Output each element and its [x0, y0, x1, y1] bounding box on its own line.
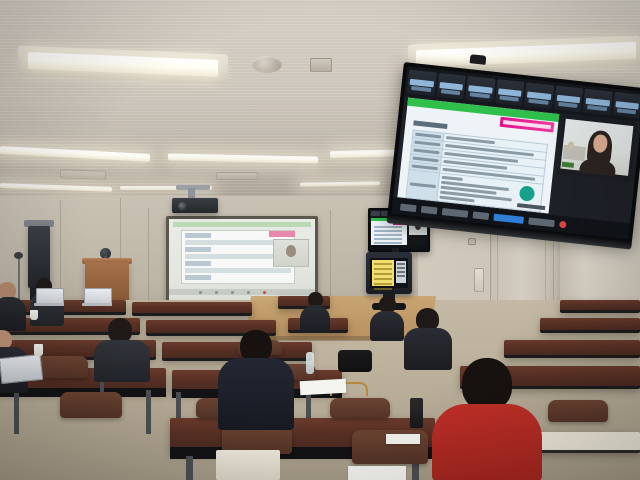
backpack — [338, 350, 372, 372]
table-row — [504, 340, 640, 358]
slide-title-text — [413, 120, 447, 129]
chair — [330, 398, 390, 418]
paper-cup-1 — [30, 310, 38, 320]
ceiling-vent-3 — [216, 172, 258, 180]
laptop-base — [34, 303, 64, 306]
projector-lens-icon — [178, 202, 187, 211]
toolbar-video-icon[interactable] — [421, 205, 438, 214]
chair — [548, 400, 608, 422]
seminar-room-photo — [0, 0, 640, 480]
black-thermos — [410, 398, 423, 428]
participant-thumb-7[interactable] — [583, 89, 613, 116]
codec-side-label — [396, 261, 406, 283]
tote-bag — [216, 450, 280, 480]
participant-thumb-4[interactable] — [495, 79, 525, 106]
attendee-back-left-laptop — [0, 282, 34, 330]
attendee-mid-left — [92, 318, 148, 378]
water-bottle — [306, 352, 314, 374]
table-leg — [146, 390, 151, 434]
zoom-shared-slide — [397, 98, 559, 214]
participant-thumb-5[interactable] — [524, 82, 554, 109]
projected-green-band — [173, 222, 311, 227]
toolbar-reactions-icon[interactable] — [528, 217, 555, 227]
zoom-active-speaker-tile[interactable] — [557, 115, 637, 183]
toolbar-participants-icon[interactable] — [442, 208, 469, 218]
projected-toolbar — [169, 289, 315, 295]
laptop-base — [82, 303, 112, 306]
participant-thumb-3[interactable] — [465, 76, 495, 103]
light-switch-plate[interactable] — [474, 268, 484, 292]
table-leg — [186, 456, 193, 480]
attendee-front-right-red — [432, 358, 542, 480]
projection-screen — [169, 219, 315, 303]
toolbar-audio-icon[interactable] — [400, 203, 417, 212]
conference-camera-icon — [470, 54, 487, 65]
table-row — [540, 318, 640, 333]
participant-thumb-6[interactable] — [553, 86, 583, 113]
chair — [60, 392, 122, 418]
ceiling-speaker — [252, 56, 282, 73]
table-leg — [14, 390, 19, 434]
projected-speaker-tile — [273, 239, 309, 267]
attendee-center-front — [218, 330, 294, 428]
handout-papers-3 — [348, 466, 406, 480]
wall-tv — [387, 62, 640, 244]
sticky-note — [372, 260, 394, 286]
ceiling-vent — [310, 58, 332, 72]
handout-papers-2 — [386, 434, 420, 444]
laptop-front-left[interactable] — [0, 354, 43, 384]
tv-screen — [392, 66, 640, 239]
table-row — [560, 300, 640, 313]
participant-thumb-8[interactable] — [612, 92, 640, 119]
attendee-right-rear — [300, 292, 330, 332]
speaker-bg-shelf — [562, 145, 585, 161]
projected-pink-badge — [269, 231, 295, 237]
toolbar-chat-icon[interactable] — [473, 211, 490, 220]
toolbar-record-icon[interactable] — [559, 220, 567, 228]
microphone-icon — [14, 252, 23, 259]
handout-papers — [300, 379, 347, 395]
ceiling-vent-2 — [60, 169, 106, 180]
toolbar-share-screen-button[interactable] — [493, 213, 524, 223]
attendee-right-mid — [370, 296, 404, 338]
wall-seam-3 — [148, 208, 149, 308]
wall-jack — [468, 238, 476, 245]
table-row — [132, 302, 252, 316]
wall-seam-4 — [330, 210, 331, 306]
participant-thumb-2[interactable] — [436, 73, 466, 100]
paper-cup-2 — [34, 344, 43, 356]
participant-thumb-1[interactable] — [407, 70, 437, 97]
monitor-toolbar — [370, 245, 428, 250]
table-right-foreground — [530, 432, 640, 453]
